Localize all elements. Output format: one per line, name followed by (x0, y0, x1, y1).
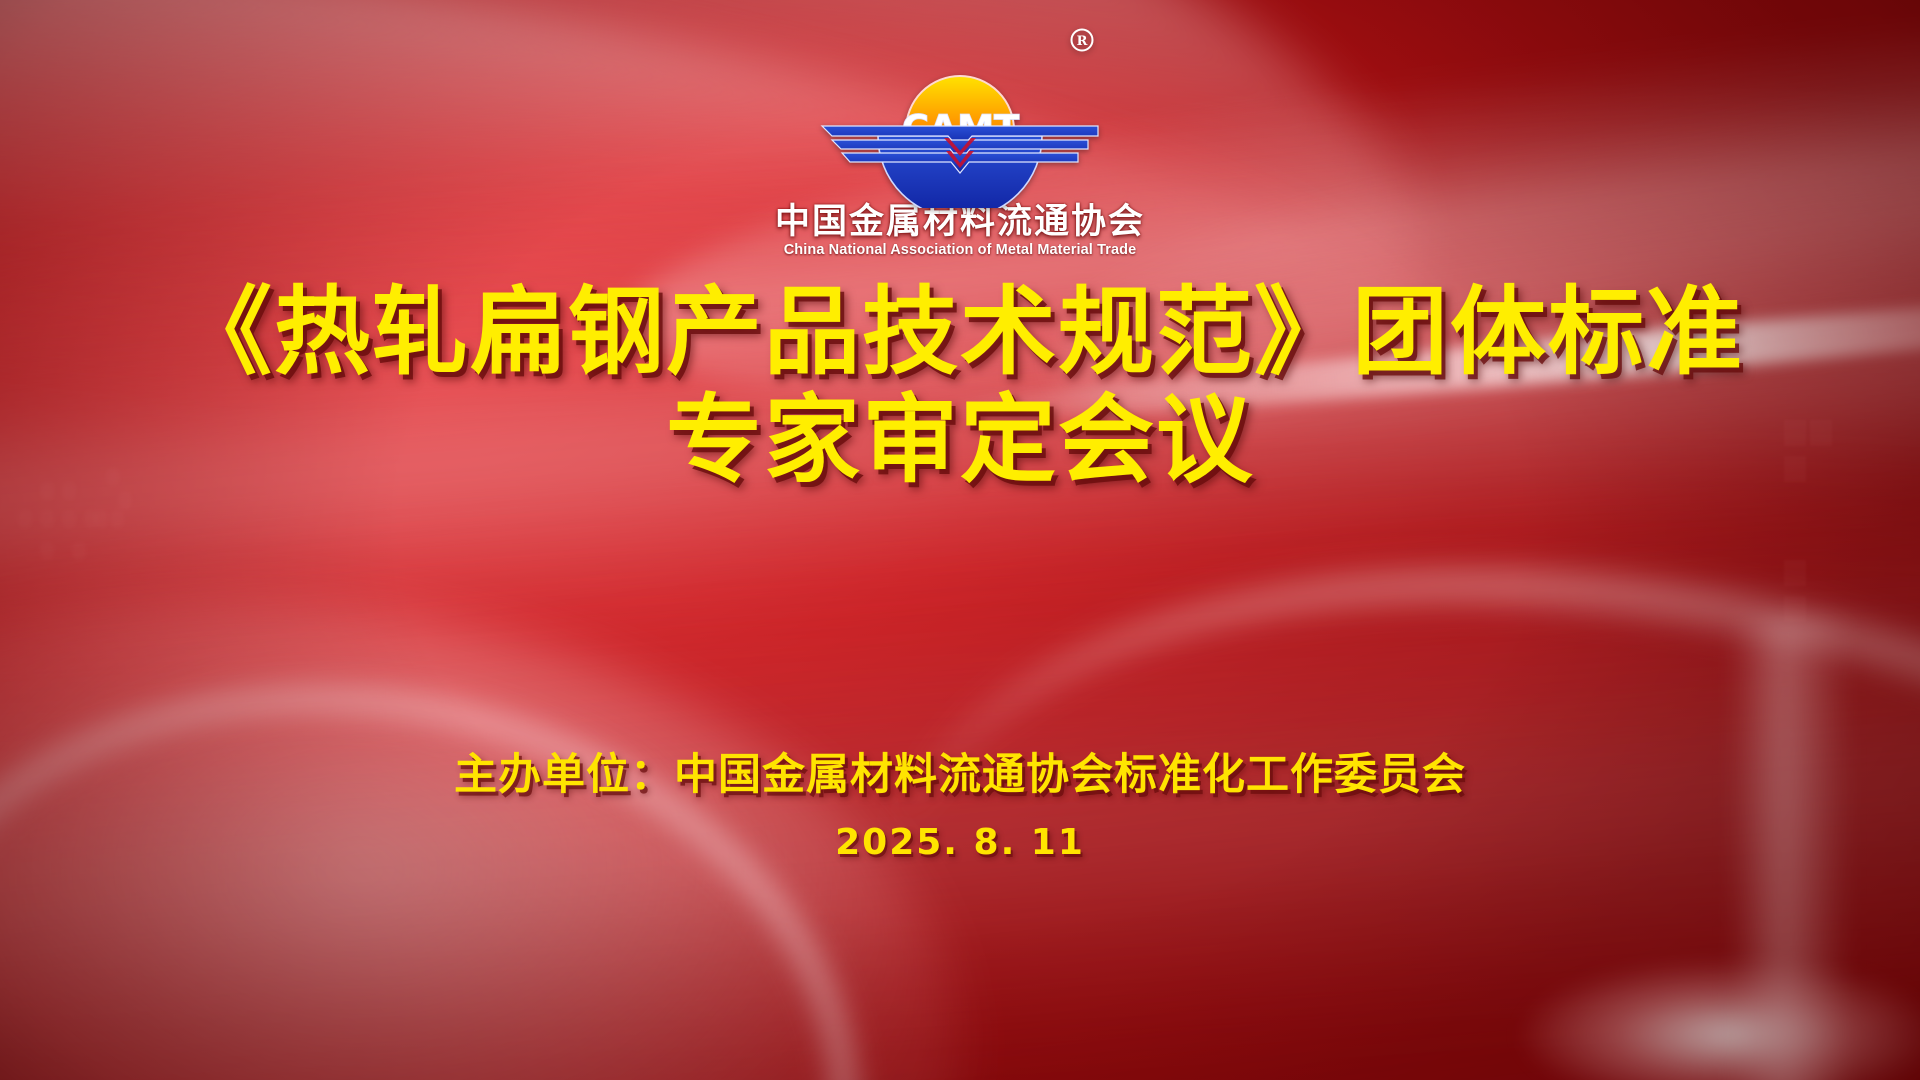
title-line-2: 专家审定会议 (0, 386, 1920, 494)
svg-text:R: R (1077, 34, 1088, 49)
page-title: 《热轧扁钢产品技术规范》团体标准 专家审定会议 (0, 278, 1920, 495)
footer: 主办单位：中国金属材料流通协会标准化工作委员会 2025. 8. 11 (0, 740, 1920, 863)
org-name-chinese: 中国金属材料流通协会 (745, 204, 1175, 241)
title-line-1: 《热轧扁钢产品技术规范》团体标准 (0, 278, 1920, 386)
slide-canvas: CAMT R (0, 0, 1920, 1080)
org-name-english: China National Association of Metal Mate… (745, 242, 1175, 258)
camt-emblem-icon: CAMT R (810, 18, 1110, 208)
registered-trademark-icon: R (1072, 30, 1093, 51)
organization-logo: CAMT R (745, 18, 1175, 258)
host-organization-line: 主办单位：中国金属材料流通协会标准化工作委员会 (0, 740, 1920, 802)
event-date: 2025. 8. 11 (0, 822, 1920, 863)
